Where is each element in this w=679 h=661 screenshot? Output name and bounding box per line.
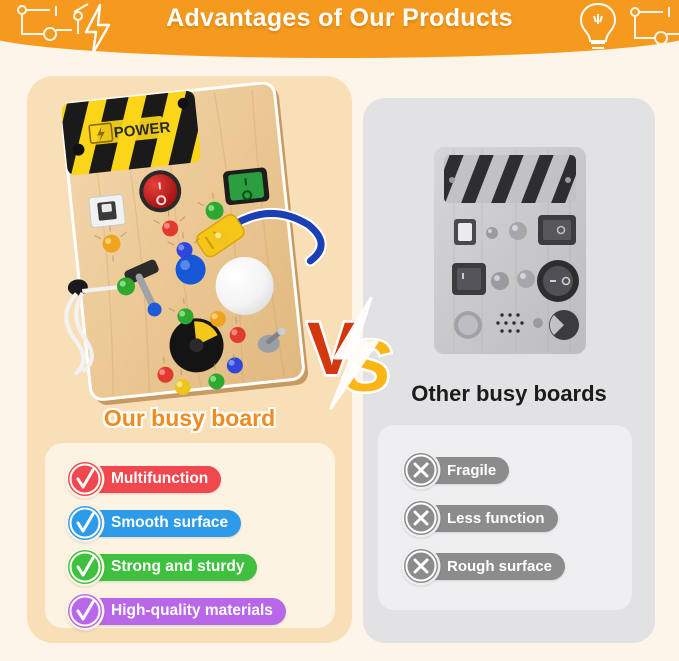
check-icon [68,550,102,584]
lightbulb-icon [575,0,621,56]
other-busy-board-image [430,143,590,358]
feature-label: Smooth surface [87,510,241,537]
feature-label: Multifunction [87,466,221,493]
our-product-title: Our busy board [27,405,352,432]
vs-badge: V S [305,296,415,411]
drawback-item-less-function[interactable]: Less function [404,501,558,535]
cross-icon [404,453,438,487]
check-icon [68,462,102,496]
drawback-item-rough-surface[interactable]: Rough surface [404,549,565,583]
cross-icon [404,501,438,535]
header-banner: Advantages of Our Products [0,0,679,58]
cross-icon [404,549,438,583]
feature-label: Strong and sturdy [87,554,257,581]
check-icon [68,594,102,628]
drawback-item-fragile[interactable]: Fragile [404,453,509,487]
feature-item-high-quality-materials[interactable]: High-quality materials [68,594,286,628]
check-icon [68,506,102,540]
feature-item-smooth-surface[interactable]: Smooth surface [68,506,241,540]
drawback-label: Less function [423,505,558,532]
feature-item-multifunction[interactable]: Multifunction [68,462,221,496]
circuit-line-art-right [625,2,679,54]
feature-label: High-quality materials [87,598,286,625]
drawback-label: Rough surface [423,553,565,580]
feature-item-strong-and-sturdy[interactable]: Strong and sturdy [68,550,257,584]
